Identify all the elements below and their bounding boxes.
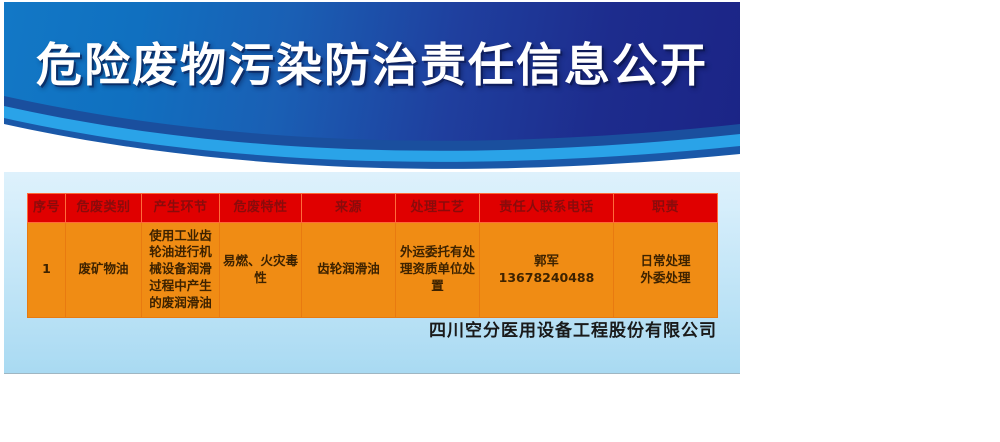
cell-source: 齿轮润滑油 (302, 222, 396, 317)
column-header-treatment: 处理工艺 (396, 194, 480, 223)
responsible-person-name: 郭军 (483, 253, 610, 270)
column-header-characteristics: 危废特性 (220, 194, 302, 223)
duty-line-1: 日常处理 (617, 253, 714, 270)
duty-line-2: 外委处理 (617, 270, 714, 287)
cell-seq: 1 (28, 222, 66, 317)
poster-banner: 危险废物污染防治责任信息公开 (4, 2, 740, 172)
column-header-category: 危废类别 (66, 194, 142, 223)
page-title: 危险废物污染防治责任信息公开 (36, 42, 708, 88)
title-container: 危险废物污染防治责任信息公开 (4, 2, 740, 127)
column-header-stage: 产生环节 (142, 194, 220, 223)
hazardous-waste-table: 序号 危废类别 产生环节 危废特性 来源 处理工艺 责任人联系电话 职责 1 废… (27, 193, 718, 318)
table-header-row: 序号 危废类别 产生环节 危废特性 来源 处理工艺 责任人联系电话 职责 (28, 194, 718, 223)
cell-responsible-contact: 郭军 13678240488 (480, 222, 614, 317)
cell-characteristics: 易燃、火灾毒性 (220, 222, 302, 317)
cell-treatment-process: 外运委托有处理资质单位处置 (396, 222, 480, 317)
poster-content: 序号 危废类别 产生环节 危废特性 来源 处理工艺 责任人联系电话 职责 1 废… (4, 172, 740, 373)
column-header-contact: 责任人联系电话 (480, 194, 614, 223)
cell-generation-stage: 使用工业齿轮油进行机械设备润滑过程中产生的废润滑油 (142, 222, 220, 317)
responsible-person-phone: 13678240488 (483, 270, 610, 287)
table-row: 1 废矿物油 使用工业齿轮油进行机械设备润滑过程中产生的废润滑油 易燃、火灾毒性… (28, 222, 718, 317)
cell-category: 废矿物油 (66, 222, 142, 317)
column-header-source: 来源 (302, 194, 396, 223)
company-name-footer: 四川空分医用设备工程股份有限公司 (4, 316, 717, 341)
column-header-duty: 职责 (614, 194, 718, 223)
cell-duty: 日常处理 外委处理 (614, 222, 718, 317)
column-header-seq: 序号 (28, 194, 66, 223)
poster-root: 危险废物污染防治责任信息公开 序号 危废类别 产生环节 危废特性 来源 处理工艺… (4, 2, 740, 373)
